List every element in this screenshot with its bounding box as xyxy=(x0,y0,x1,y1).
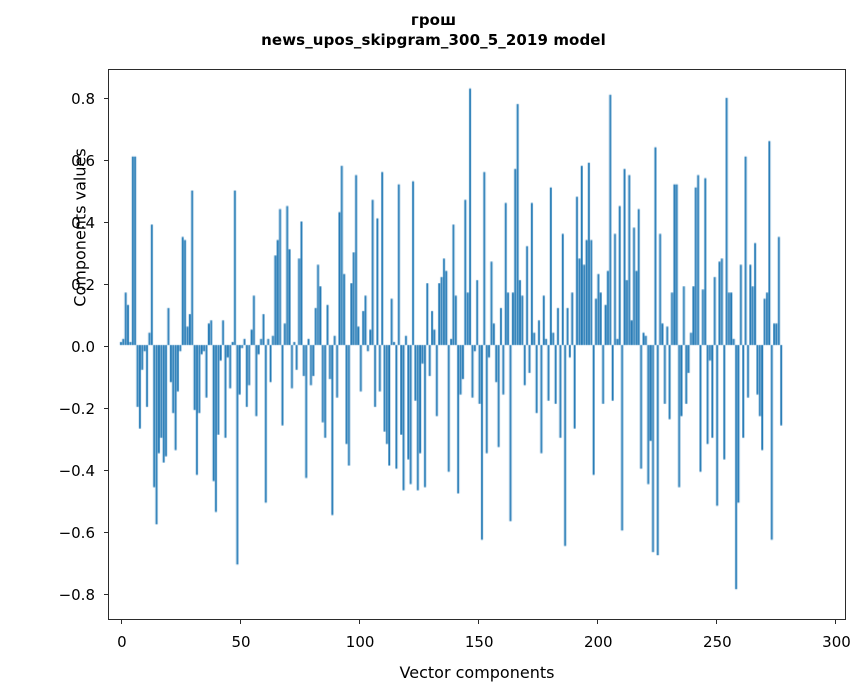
chart-title-word: грош xyxy=(0,10,867,30)
y-axis-tick: −0.6 xyxy=(104,532,109,533)
y-axis-tick: −0.4 xyxy=(104,470,109,471)
plot-axes: −0.8−0.6−0.4−0.20.00.20.40.60.8050100150… xyxy=(108,69,846,620)
x-axis-tick: 150 xyxy=(478,619,479,624)
y-axis-tick: −0.8 xyxy=(104,594,109,595)
y-axis-tick-label: −0.2 xyxy=(59,400,95,418)
y-axis-tick-label: −0.6 xyxy=(59,524,95,542)
chart-title-model: news_upos_skipgram_300_5_2019 model xyxy=(0,30,867,50)
x-axis-label: Vector components xyxy=(108,663,846,682)
y-axis-tick: 0.6 xyxy=(104,160,109,161)
bar-series-canvas xyxy=(109,70,845,619)
y-axis-tick: 0.0 xyxy=(104,346,109,347)
matplotlib-figure: грош news_upos_skipgram_300_5_2019 model… xyxy=(0,0,867,696)
y-axis-tick: 0.4 xyxy=(104,222,109,223)
x-axis-tick-label: 100 xyxy=(346,633,375,651)
x-axis-tick-label: 50 xyxy=(231,633,250,651)
y-axis-tick: −0.2 xyxy=(104,408,109,409)
x-axis-tick: 100 xyxy=(359,619,360,624)
x-axis-tick-label: 300 xyxy=(822,633,851,651)
y-axis-tick-label: −0.8 xyxy=(59,586,95,604)
x-axis-tick: 200 xyxy=(597,619,598,624)
x-axis-tick: 0 xyxy=(121,619,122,624)
x-axis-tick: 250 xyxy=(716,619,717,624)
x-axis-tick-label: 200 xyxy=(584,633,613,651)
x-axis-tick-label: 150 xyxy=(465,633,494,651)
x-axis-tick: 50 xyxy=(240,619,241,624)
y-axis-tick: 0.8 xyxy=(104,98,109,99)
y-axis-label: Components values xyxy=(71,102,90,354)
y-axis-tick: 0.2 xyxy=(104,284,109,285)
x-axis-tick-label: 0 xyxy=(117,633,127,651)
y-axis-tick-label: −0.4 xyxy=(59,462,95,480)
chart-title: грош news_upos_skipgram_300_5_2019 model xyxy=(0,10,867,50)
x-axis-tick: 300 xyxy=(835,619,836,624)
x-axis-tick-label: 250 xyxy=(703,633,732,651)
